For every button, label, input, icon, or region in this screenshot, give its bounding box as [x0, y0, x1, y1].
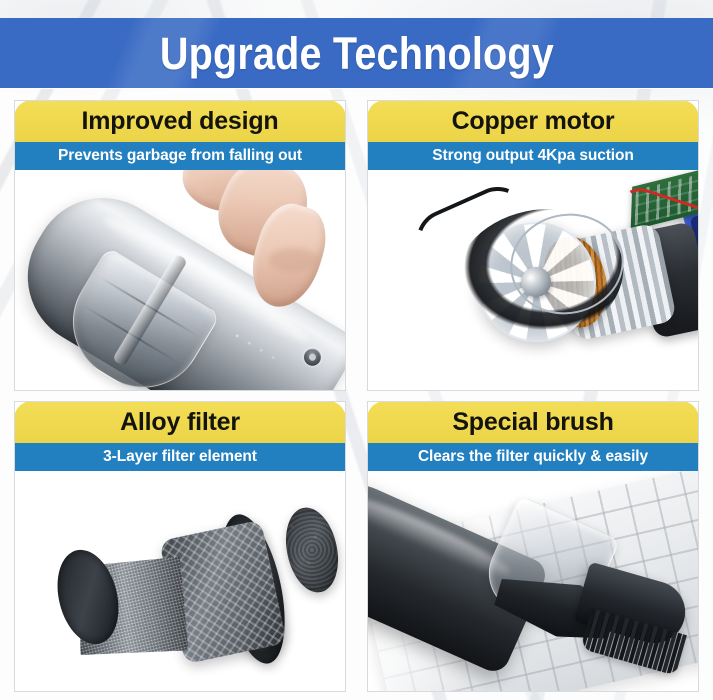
panel-title-copper-motor: Copper motor	[367, 100, 699, 142]
panel-title-special-brush: Special brush	[367, 401, 699, 443]
panel-image-alloy-filter	[15, 471, 345, 691]
hand-icon	[173, 170, 345, 314]
feature-grid: Improved design Prevents garbage from fa…	[14, 100, 699, 692]
panel-copper-motor: Copper motor Strong output 4Kpa suction	[367, 100, 699, 391]
motor-assembly-icon	[368, 170, 698, 390]
led-indicators-icon	[232, 331, 280, 364]
panel-title-alloy-filter: Alloy filter	[14, 401, 346, 443]
panel-subtitle-alloy-filter: 3-Layer filter element	[14, 443, 346, 471]
panel-special-brush: Special brush Clears the filter quickly …	[367, 401, 699, 692]
knuckle-shadow	[269, 248, 319, 272]
panel-alloy-filter: Alloy filter 3-Layer filter element	[14, 401, 346, 692]
panel-image-copper-motor	[368, 170, 698, 390]
panel-subtitle-copper-motor: Strong output 4Kpa suction	[367, 142, 699, 170]
panel-image-special-brush	[368, 471, 698, 691]
infographic-page: Upgrade Technology Improved design Preve…	[0, 0, 713, 700]
panel-improved-design: Improved design Prevents garbage from fa…	[14, 100, 346, 391]
panel-subtitle-improved-design: Prevents garbage from falling out	[14, 142, 346, 170]
power-button-icon	[301, 346, 324, 369]
sponge-filter-icon	[279, 503, 345, 598]
panel-subtitle-special-brush: Clears the filter quickly & easily	[367, 443, 699, 471]
panel-image-improved-design	[15, 170, 345, 390]
panel-title-improved-design: Improved design	[14, 100, 346, 142]
page-title: Upgrade Technology	[159, 31, 553, 76]
header-banner: Upgrade Technology	[0, 18, 713, 88]
